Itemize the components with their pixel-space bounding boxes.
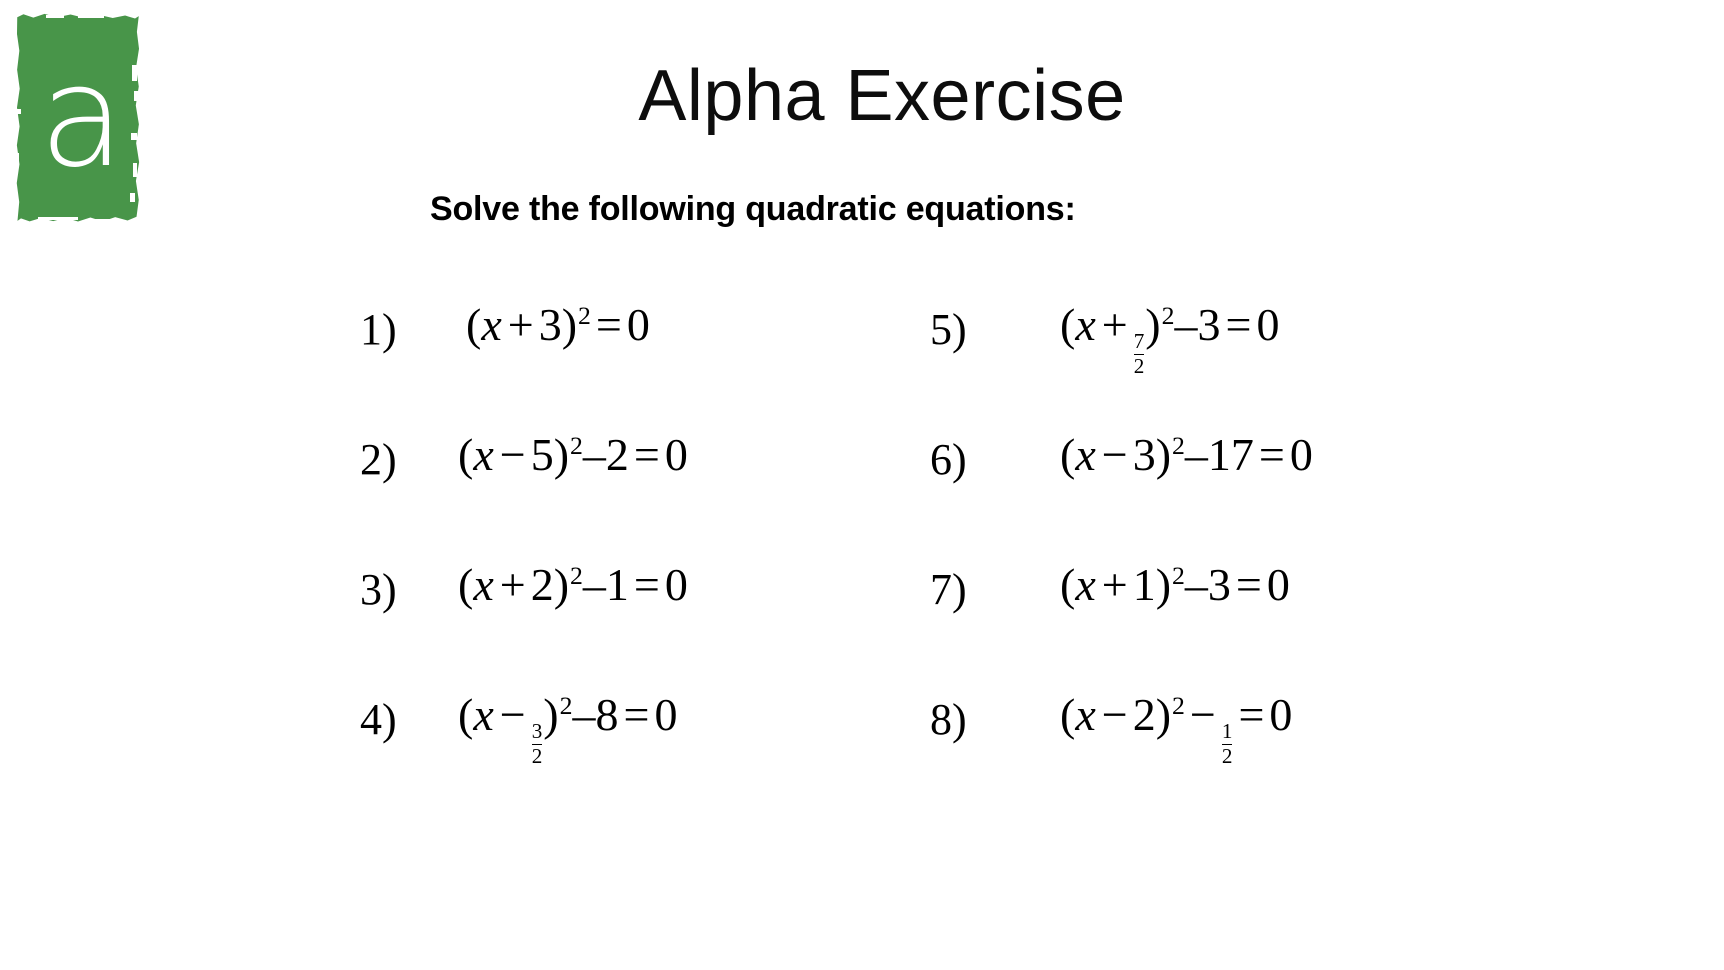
exercise-equation: (x−32)2–8=0	[458, 692, 677, 767]
equals-sign: =	[629, 429, 665, 480]
fraction-seven-halves: 72	[1134, 331, 1145, 377]
exercise-item: 3) (x+2)2–1=0	[360, 550, 980, 680]
constant-value: 2	[606, 429, 629, 480]
exercise-equation: (x−3)2–17=0	[1060, 432, 1313, 478]
equals-sign: =	[1233, 689, 1269, 740]
fraction-denominator: 2	[1134, 354, 1145, 378]
exercise-column-left: 1) (x+3)2=0 2) (x−5)2–2=0 3) (x+2)2–1=0 …	[360, 290, 980, 810]
fraction-numerator: 1	[1222, 721, 1233, 744]
operator: –	[1185, 559, 1208, 610]
paren-open: (	[458, 559, 473, 610]
fraction-numerator: 7	[1134, 331, 1145, 354]
exercise-item: 7) (x+1)2–3=0	[930, 550, 1550, 680]
exponent: 2	[1171, 431, 1185, 460]
equals-sign: =	[1231, 559, 1267, 610]
operator: −	[495, 689, 531, 740]
exercise-item: 6) (x−3)2–17=0	[930, 420, 1550, 550]
exercise-item: 5) (x+72)2–3=0	[930, 290, 1550, 420]
exercise-item: 4) (x−32)2–8=0	[360, 680, 980, 810]
exercise-equation: (x−2)2−12=0	[1060, 692, 1292, 767]
right-hand-side: 0	[665, 429, 688, 480]
paren-close: )	[562, 299, 577, 350]
term-value: 3	[539, 299, 562, 350]
operator: −	[1097, 429, 1133, 480]
exercise-number: 3)	[360, 568, 397, 612]
fraction-numerator: 3	[532, 721, 543, 744]
exponent: 2	[559, 691, 573, 720]
exponent: 2	[569, 561, 583, 590]
operator: +	[495, 559, 531, 610]
exercise-number: 8)	[930, 698, 967, 742]
operator: +	[1097, 559, 1133, 610]
variable-x: x	[1075, 689, 1096, 740]
paren-close: )	[543, 689, 558, 740]
exercise-equation: (x+72)2–3=0	[1060, 302, 1279, 377]
exercise-column-right: 5) (x+72)2–3=0 6) (x−3)2–17=0 7) (x+1)2–…	[930, 290, 1550, 810]
paren-open: (	[458, 429, 473, 480]
fraction-one-half: 12	[1222, 721, 1233, 767]
operator: –	[1185, 429, 1208, 480]
paren-open: (	[1060, 429, 1075, 480]
constant-value: 17	[1208, 429, 1254, 480]
constant-value: 1	[606, 559, 629, 610]
exponent: 2	[577, 301, 591, 330]
right-hand-side: 0	[654, 689, 677, 740]
exercise-item: 2) (x−5)2–2=0	[360, 420, 980, 550]
equals-sign: =	[618, 689, 654, 740]
paren-close: )	[1156, 429, 1171, 480]
exercise-number: 6)	[930, 438, 967, 482]
exponent: 2	[1161, 301, 1175, 330]
operator: −	[1097, 689, 1133, 740]
instructions-text: Solve the following quadratic equations:	[430, 190, 1076, 229]
right-hand-side: 0	[1290, 429, 1313, 480]
operator: –	[583, 559, 606, 610]
fraction-three-halves: 32	[532, 721, 543, 767]
right-hand-side: 0	[627, 299, 650, 350]
operator: –	[1174, 299, 1197, 350]
operator: −	[1185, 689, 1221, 740]
exercise-list: 1) (x+3)2=0 2) (x−5)2–2=0 3) (x+2)2–1=0 …	[0, 290, 1724, 850]
variable-x: x	[473, 689, 494, 740]
variable-x: x	[1075, 429, 1096, 480]
paren-open: (	[1060, 299, 1075, 350]
right-hand-side: 0	[1269, 689, 1292, 740]
term-value: 5	[531, 429, 554, 480]
exercise-equation: (x+3)2=0	[466, 302, 650, 348]
exercise-equation: (x+2)2–1=0	[458, 562, 688, 608]
exercise-number: 4)	[360, 698, 397, 742]
paren-close: )	[1145, 299, 1160, 350]
operator: +	[503, 299, 539, 350]
variable-x: x	[473, 429, 494, 480]
variable-x: x	[481, 299, 502, 350]
equals-sign: =	[1254, 429, 1290, 480]
paren-open: (	[466, 299, 481, 350]
variable-x: x	[1075, 299, 1096, 350]
paren-close: )	[1156, 689, 1171, 740]
constant-value: 3	[1197, 299, 1220, 350]
exercise-number: 2)	[360, 438, 397, 482]
variable-x: x	[473, 559, 494, 610]
term-value: 1	[1133, 559, 1156, 610]
right-hand-side: 0	[1267, 559, 1290, 610]
exercise-item: 1) (x+3)2=0	[360, 290, 980, 420]
constant-value: 3	[1208, 559, 1231, 610]
exercise-item: 8) (x−2)2−12=0	[930, 680, 1550, 810]
operator: –	[572, 689, 595, 740]
term-value: 2	[531, 559, 554, 610]
right-hand-side: 0	[1256, 299, 1279, 350]
operator: +	[1097, 299, 1133, 350]
term-value: 3	[1133, 429, 1156, 480]
fraction-denominator: 2	[532, 744, 543, 768]
term-value: 2	[1133, 689, 1156, 740]
paren-close: )	[554, 429, 569, 480]
operator: −	[495, 429, 531, 480]
variable-x: x	[1075, 559, 1096, 610]
paren-open: (	[458, 689, 473, 740]
exponent: 2	[1171, 691, 1185, 720]
paren-open: (	[1060, 689, 1075, 740]
fraction-denominator: 2	[1222, 744, 1233, 768]
exercise-number: 7)	[930, 568, 967, 612]
paren-close: )	[554, 559, 569, 610]
equals-sign: =	[1220, 299, 1256, 350]
paren-open: (	[1060, 559, 1075, 610]
right-hand-side: 0	[665, 559, 688, 610]
exercise-number: 5)	[930, 308, 967, 352]
constant-value: 8	[595, 689, 618, 740]
equals-sign: =	[591, 299, 627, 350]
equals-sign: =	[629, 559, 665, 610]
paren-close: )	[1156, 559, 1171, 610]
exponent: 2	[1171, 561, 1185, 590]
exercise-equation: (x−5)2–2=0	[458, 432, 688, 478]
exercise-equation: (x+1)2–3=0	[1060, 562, 1290, 608]
operator: –	[583, 429, 606, 480]
page-title: Alpha Exercise	[0, 55, 1724, 137]
exponent: 2	[569, 431, 583, 460]
exercise-number: 1)	[360, 308, 397, 352]
